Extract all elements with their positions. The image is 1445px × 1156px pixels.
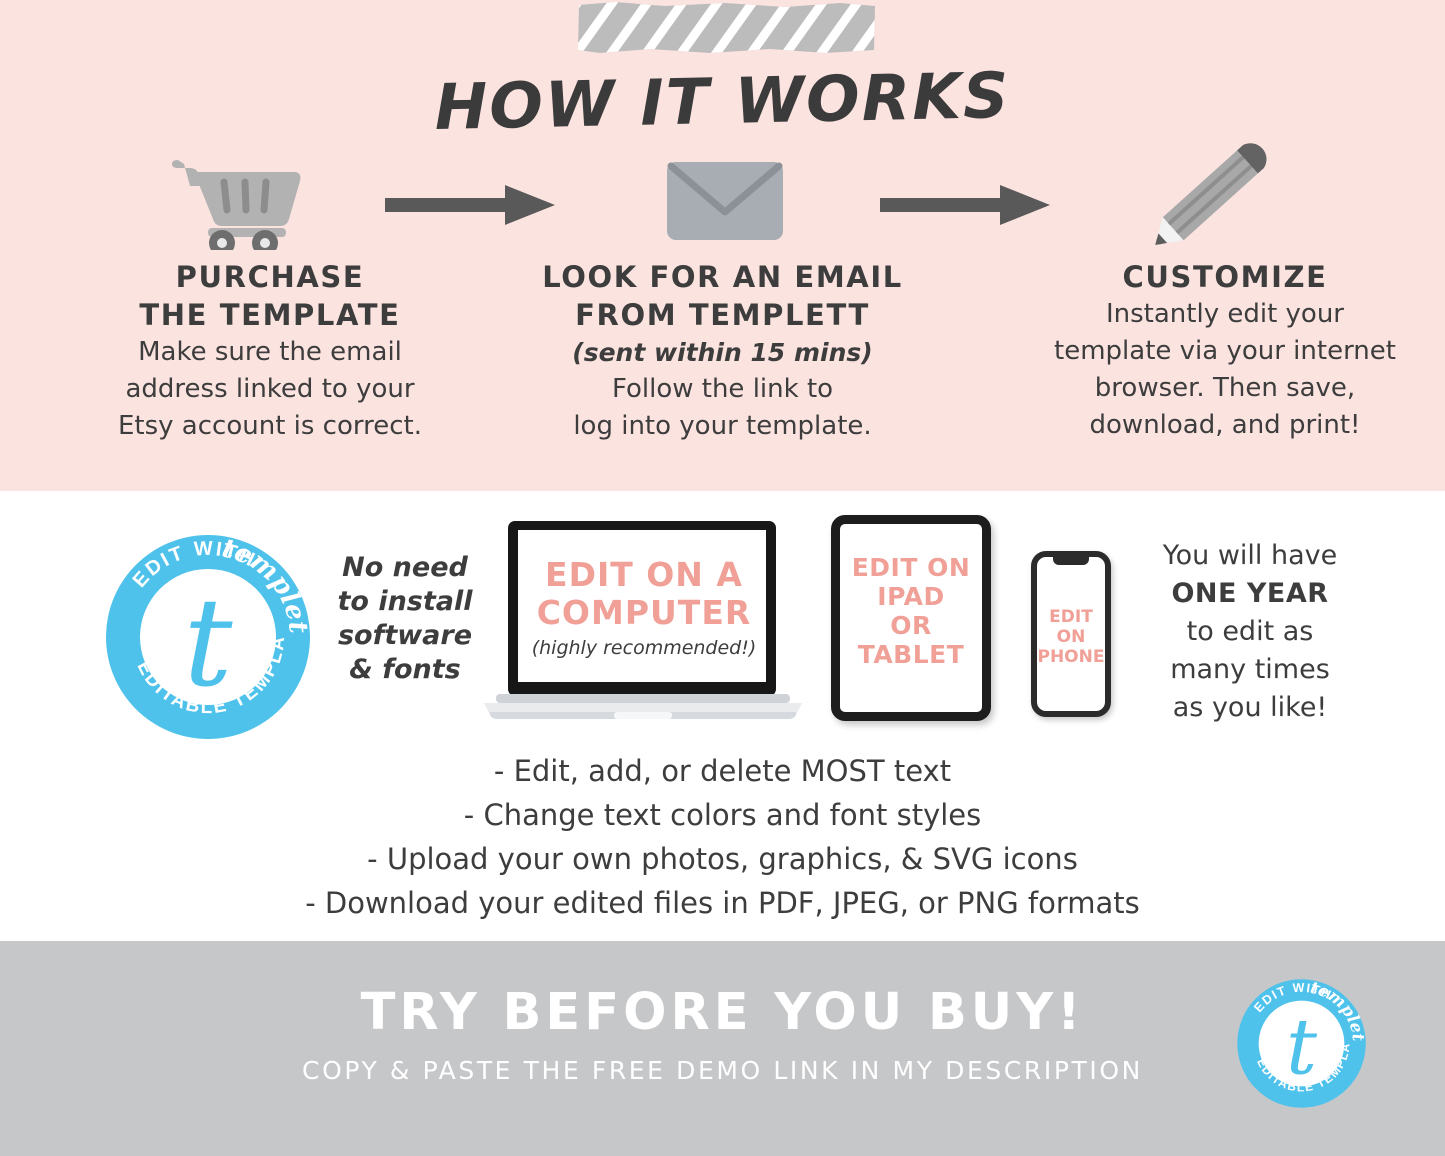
step-2-heading-line2: FROM TEMPLETT (510, 296, 935, 334)
how-it-works-section: HOW IT WORKS (0, 0, 1445, 491)
step-2-heading-line1: LOOK FOR AN EMAIL (510, 258, 935, 296)
tablet-line3: OR (838, 611, 984, 640)
step-2-body-line1: Follow the link to (510, 371, 935, 408)
badge-center-letter: t (183, 572, 233, 714)
badge-center-letter: t (1286, 1004, 1317, 1093)
step-look-for-email: LOOK FOR AN EMAIL FROM TEMPLETT (sent wi… (510, 258, 935, 445)
one-year-line3: to edit as (1128, 613, 1372, 651)
page-title: HOW IT WORKS (0, 55, 1445, 149)
laptop-screen-text: EDIT ON A COMPUTER (highly recommended!) (508, 556, 780, 660)
no-need-line4: & fonts (330, 653, 480, 687)
templett-badge: EDIT WITH templett EDITABLE TEMPLATE t (1236, 978, 1367, 1109)
step-1-heading-line2: THE TEMPLATE (85, 296, 455, 334)
one-year-line4: many times (1128, 651, 1372, 689)
no-need-text: No need to install software & fonts (330, 551, 480, 687)
phone-screen-text: EDIT ON PHONE (1033, 607, 1109, 667)
laptop-note: (highly recommended!) (508, 636, 780, 660)
step-3-body-line2: template via your internet (1030, 333, 1420, 370)
arrow-right-icon (880, 185, 1050, 225)
one-year-bold: ONE YEAR (1128, 575, 1372, 613)
step-3-body-line4: download, and print! (1030, 407, 1420, 444)
list-item: - Upload your own photos, graphics, & SV… (0, 837, 1445, 881)
one-year-line1: You will have (1128, 537, 1372, 575)
step-1-body-line2: address linked to your (85, 371, 455, 408)
step-1-body-line3: Etsy account is correct. (85, 408, 455, 445)
arrow-right-icon (385, 185, 555, 225)
templett-badge: EDIT WITH templett EDITABLE TEMPLATE t (104, 533, 312, 741)
no-need-line2: to install (330, 585, 480, 619)
tablet-line4: TABLET (838, 640, 984, 669)
list-item: - Download your edited files in PDF, JPE… (0, 881, 1445, 925)
tablet-screen-text: EDIT ON IPAD OR TABLET (838, 553, 984, 669)
step-3-body-line3: browser. Then save, (1030, 370, 1420, 407)
tablet-line1: EDIT ON (838, 553, 984, 582)
footer-subtitle: COPY & PASTE THE FREE DEMO LINK IN MY DE… (0, 1056, 1445, 1086)
envelope-icon (635, 140, 815, 250)
tablet-line2: IPAD (838, 582, 984, 611)
step-3-body-line1: Instantly edit your (1030, 296, 1420, 333)
step-3-heading-line1: CUSTOMIZE (1030, 258, 1420, 296)
laptop-line1: EDIT ON A (508, 556, 780, 594)
step-customize: CUSTOMIZE Instantly edit your template v… (1030, 258, 1420, 444)
step-1-body-line1: Make sure the email (85, 334, 455, 371)
phone-line1: EDIT (1033, 607, 1109, 627)
step-2-body-line2: log into your template. (510, 408, 935, 445)
phone-notch (1053, 557, 1089, 565)
how-it-works-infographic: HOW IT WORKS (0, 0, 1445, 1156)
footer-section: TRY BEFORE YOU BUY! COPY & PASTE THE FRE… (0, 941, 1445, 1156)
list-item: - Change text colors and font styles (0, 793, 1445, 837)
feature-list: - Edit, add, or delete MOST text - Chang… (0, 749, 1445, 925)
phone-line2: ON (1033, 627, 1109, 647)
footer-title: TRY BEFORE YOU BUY! (0, 985, 1445, 1041)
shopping-cart-icon (160, 140, 340, 250)
pencil-icon (1120, 140, 1300, 250)
list-item: - Edit, add, or delete MOST text (0, 749, 1445, 793)
one-year-line5: as you like! (1128, 689, 1372, 727)
step-2-italic-note: (sent within 15 mins) (510, 334, 935, 371)
no-need-line1: No need (330, 551, 480, 585)
step-1-heading-line1: PURCHASE (85, 258, 455, 296)
washi-tape-icon (575, 2, 879, 54)
devices-section: EDIT WITH templett EDITABLE TEMPLATE t N… (0, 491, 1445, 941)
one-year-text: You will have ONE YEAR to edit as many t… (1128, 537, 1372, 727)
no-need-line3: software (330, 619, 480, 653)
phone-line3: PHONE (1033, 647, 1109, 667)
step-purchase: PURCHASE THE TEMPLATE Make sure the emai… (85, 258, 455, 445)
laptop-line2: COMPUTER (508, 594, 780, 632)
